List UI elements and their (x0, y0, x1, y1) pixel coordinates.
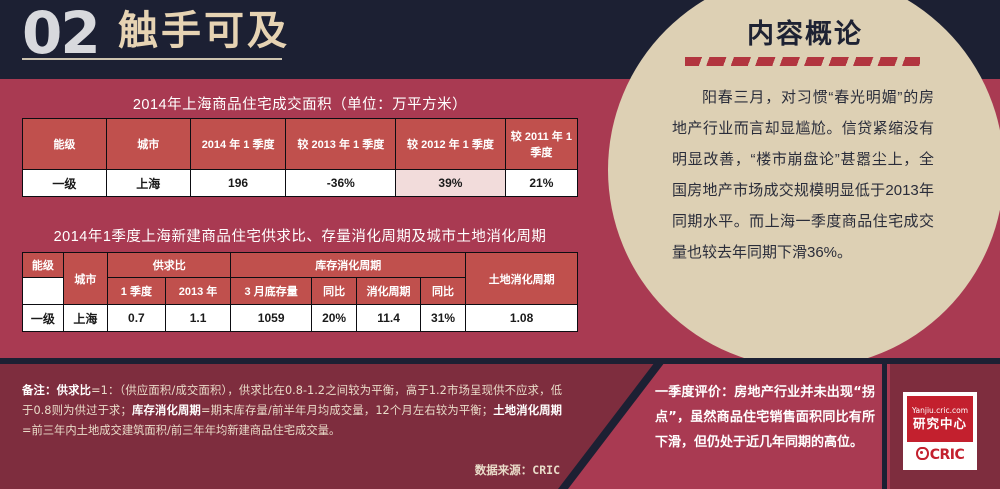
cell-vs2012q1: 39% (396, 170, 506, 197)
col-header-2014q1: 2014 年 1 季度 (190, 119, 286, 170)
col-header-tier: 能级 (23, 119, 107, 170)
table-header-row-1: 能级 城市 供求比 库存消化周期 土地消化周期 (23, 253, 578, 278)
eye-icon (916, 447, 929, 460)
footnote-term-1: 供求比 (57, 384, 92, 397)
dashed-rule (685, 57, 920, 66)
footnote-term-3: 土地消化周期 (493, 404, 562, 417)
cell-ratio-q1: 0.7 (108, 305, 166, 332)
col-header-vs2012q1: 较 2012 年 1 季度 (396, 119, 506, 170)
subheader-march-stock: 3 月底存量 (231, 278, 312, 305)
group-header-supply-demand-ratio: 供求比 (108, 253, 231, 278)
subheader-q1: 1 季度 (108, 278, 166, 305)
logo-url: Yanjiu.cric.com (907, 396, 973, 416)
footnote-term-2: 库存消化周期 (132, 404, 201, 417)
overview-body: 阳春三月，对习惯“春光明媚”的房地产行业而言却显尴尬。信贷紧缩没有明显改善，“楼… (672, 82, 934, 268)
footnote-label: 备注： (22, 384, 57, 397)
cell-vs2011q1: 21% (505, 170, 577, 197)
overview-title: 内容概论 (690, 12, 920, 51)
supply-demand-table: 能级 城市 供求比 库存消化周期 土地消化周期 1 季度 2013 年 3 月底… (22, 252, 578, 332)
header-underline (22, 58, 282, 60)
data-source-label: 数据来源：CRIC (330, 462, 560, 478)
subheader-2013: 2013 年 (165, 278, 231, 305)
col-header-city: 城市 (63, 253, 107, 305)
footer-vertical-divider (882, 364, 887, 489)
cell-yoy-1: 20% (311, 305, 356, 332)
cell-yoy-2: 31% (420, 305, 465, 332)
section-number: 02 (22, 4, 99, 62)
slide-canvas: 02 触手可及 2014年上海商品住宅成交面积（单位：万平方米） 能级 城市 2… (0, 0, 1000, 489)
col-header-vs2013q1: 较 2013 年 1 季度 (286, 119, 396, 170)
footer-top-divider (0, 358, 1000, 364)
table-row: 一级 上海 196 -36% 39% 21% (23, 170, 578, 197)
footnote-text-2: =期末库存量/前半年月均成交量，12个月左右较为平衡； (201, 404, 493, 417)
cell-city: 上海 (106, 170, 190, 197)
cell-ratio-2013: 1.1 (165, 305, 231, 332)
cell-tier: 一级 (23, 305, 64, 332)
table2-caption: 2014年1季度上海新建商品住宅供求比、存量消化周期及城市土地消化周期 (22, 225, 578, 246)
table-row: 一级 上海 0.7 1.1 1059 20% 11.4 31% 1.08 (23, 305, 578, 332)
sales-area-table: 能级 城市 2014 年 1 季度 较 2013 年 1 季度 较 2012 年… (22, 118, 578, 197)
cell-2014q1: 196 (190, 170, 286, 197)
subheader-blank (23, 278, 64, 305)
cell-city: 上海 (63, 305, 107, 332)
cell-land-cycle: 1.08 (466, 305, 578, 332)
col-header-city: 城市 (106, 119, 190, 170)
logo-chinese: 研究中心 (907, 416, 973, 432)
logo-red-block: Yanjiu.cric.com 研究中心 (907, 396, 973, 442)
cell-cycle: 11.4 (357, 305, 421, 332)
section-title: 触手可及 (118, 8, 290, 54)
col-header-tier: 能级 (23, 253, 64, 278)
cell-tier: 一级 (23, 170, 107, 197)
subheader-cycle: 消化周期 (357, 278, 421, 305)
logo-brand-text: CRIC (930, 447, 965, 463)
table-header-row: 能级 城市 2014 年 1 季度 较 2013 年 1 季度 较 2012 年… (23, 119, 578, 170)
col-header-vs2011q1: 较 2011 年 1 季度 (505, 119, 577, 170)
group-header-land-cycle: 土地消化周期 (466, 253, 578, 305)
cric-logo: Yanjiu.cric.com 研究中心 CRIC (903, 392, 977, 470)
table1-caption: 2014年上海商品住宅成交面积（单位：万平方米） (22, 93, 578, 114)
footnotes: 备注：供求比=1：（供应面积/成交面积），供求比在0.8-1.2之间较为平衡，高… (22, 381, 562, 441)
cell-vs2013q1: -36% (286, 170, 396, 197)
cell-march-stock: 1059 (231, 305, 312, 332)
group-header-inventory-cycle: 库存消化周期 (231, 253, 466, 278)
quarter-evaluation: 一季度评价：房地产行业并未出现“拐点”，虽然商品住宅销售面积同比有所下滑，但仍处… (655, 380, 875, 455)
logo-brand: CRIC (907, 445, 973, 466)
footnote-text-3: =前三年内土地成交建筑面积/前三年年均新建商品住宅成交量。 (22, 424, 340, 437)
subheader-yoy-2: 同比 (420, 278, 465, 305)
subheader-yoy-1: 同比 (311, 278, 356, 305)
